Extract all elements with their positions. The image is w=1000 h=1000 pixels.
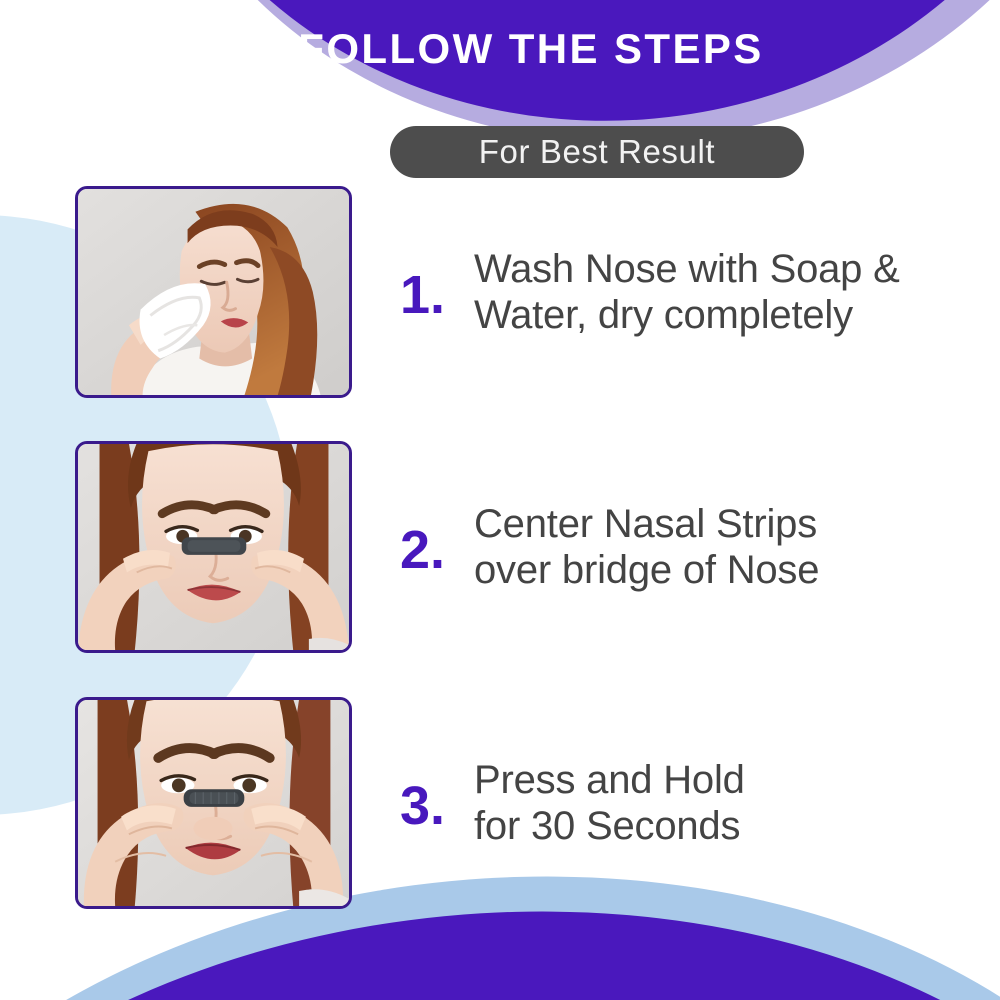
step-description: Center Nasal Strips over bridge of Nose bbox=[474, 501, 819, 593]
step-photo-1 bbox=[75, 186, 352, 398]
step-number: 1. bbox=[400, 261, 474, 323]
step-text-line: for 30 Seconds bbox=[474, 803, 745, 849]
step-item: 2. Center Nasal Strips over bridge of No… bbox=[0, 441, 1000, 657]
step-body: 3. Press and Hold for 30 Seconds bbox=[400, 697, 980, 909]
step-text-line: Center Nasal Strips bbox=[474, 501, 819, 547]
step-text-line: Water, dry completely bbox=[474, 292, 900, 338]
step-text-line: Wash Nose with Soap & bbox=[474, 246, 900, 292]
step-body: 2. Center Nasal Strips over bridge of No… bbox=[400, 441, 980, 653]
step-text-line: over bridge of Nose bbox=[474, 547, 819, 593]
best-result-badge-label: For Best Result bbox=[479, 135, 715, 169]
step-item: 3. Press and Hold for 30 Seconds bbox=[0, 697, 1000, 913]
page-title: FOLLOW THE STEPS bbox=[0, 24, 1000, 74]
best-result-badge: For Best Result bbox=[390, 126, 804, 178]
step-number: 3. bbox=[400, 772, 474, 834]
step-photo-3 bbox=[75, 697, 352, 909]
step-number: 2. bbox=[400, 516, 474, 578]
step-text-line: Press and Hold bbox=[474, 757, 745, 803]
infographic-poster: FOLLOW THE STEPS For Best Result bbox=[0, 0, 1000, 1000]
step-description: Wash Nose with Soap & Water, dry complet… bbox=[474, 246, 900, 338]
step-description: Press and Hold for 30 Seconds bbox=[474, 757, 745, 849]
step-body: 1. Wash Nose with Soap & Water, dry comp… bbox=[400, 186, 980, 398]
step-item: 1. Wash Nose with Soap & Water, dry comp… bbox=[0, 186, 1000, 402]
step-photo-2 bbox=[75, 441, 352, 653]
